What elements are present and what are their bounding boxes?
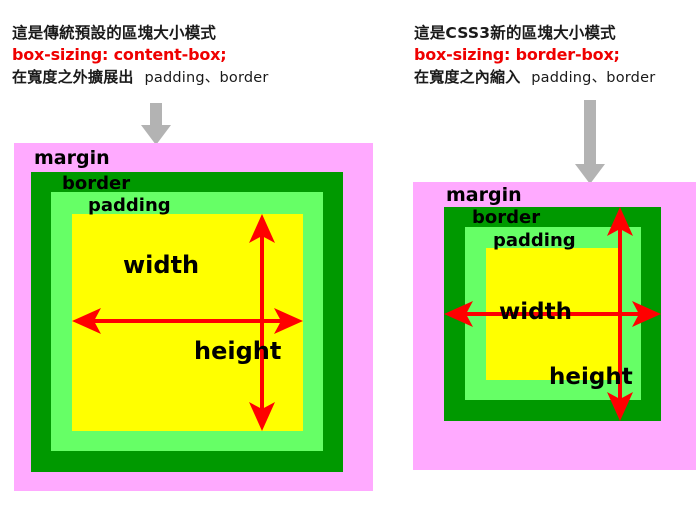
arrow-head — [575, 164, 605, 184]
down-arrow-icon — [573, 100, 607, 184]
caption-content-box: 這是傳統預設的區塊大小模式 box-sizing: content-box; 在… — [12, 22, 269, 88]
arrow-shaft — [150, 103, 162, 127]
width-label: width — [123, 251, 199, 279]
caption-detail-prefix: 在寬度之內縮入 — [414, 68, 520, 86]
down-arrow-icon — [139, 103, 173, 145]
arrow-shaft — [584, 100, 596, 166]
caption-line-code: box-sizing: content-box; — [12, 44, 269, 67]
caption-line-description: 這是CSS3新的區塊大小模式 — [414, 22, 655, 44]
caption-detail-properties: padding、border — [531, 70, 655, 86]
caption-line-code: box-sizing: border-box; — [414, 44, 655, 67]
width-arrow-icon — [72, 308, 303, 334]
height-label: height — [549, 364, 633, 390]
box-model-diagram-content-box: margin border padding width height — [14, 143, 373, 491]
caption-line-description: 這是傳統預設的區塊大小模式 — [12, 22, 269, 44]
caption-detail-properties: padding、border — [144, 70, 268, 86]
width-label: width — [499, 299, 572, 325]
dimension-arrows — [413, 182, 696, 470]
caption-border-box: 這是CSS3新的區塊大小模式 box-sizing: border-box; 在… — [414, 22, 655, 88]
caption-line-detail: 在寬度之外擴展出 padding、border — [12, 67, 269, 89]
height-label: height — [194, 337, 281, 365]
caption-line-detail: 在寬度之內縮入 padding、border — [414, 67, 655, 89]
dimension-arrows — [14, 143, 373, 491]
arrow-head — [141, 125, 171, 145]
caption-detail-prefix: 在寬度之外擴展出 — [12, 68, 134, 86]
box-model-diagram-border-box: margin border padding width height — [413, 182, 696, 470]
